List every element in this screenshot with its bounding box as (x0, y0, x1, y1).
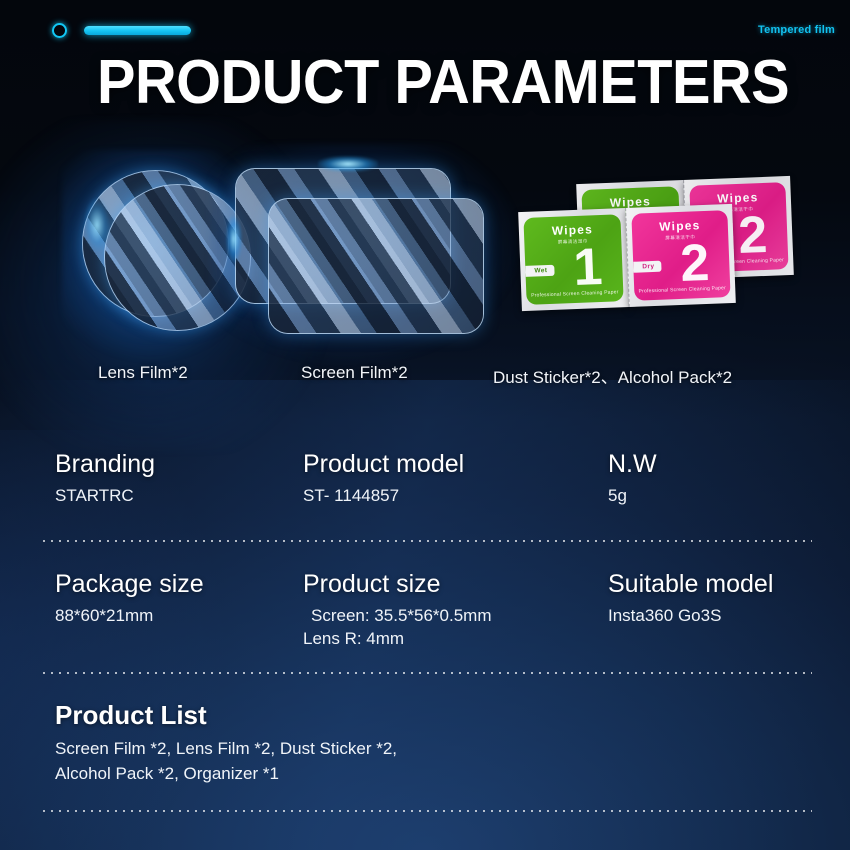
spec-value: Screen: 35.5*56*0.5mm (311, 606, 492, 626)
spec-value: Insta360 Go3S (608, 606, 773, 626)
wipes-title: Wipes (524, 221, 621, 239)
wipes-sachet-dry: Wipes 屏幕清洁干巾 Dry 2 Professional Screen C… (625, 204, 736, 307)
accent-bar (84, 26, 191, 35)
spec-value-secondary: Lens R: 4mm (303, 629, 492, 649)
wipes-pad-pink: Wipes 屏幕清洁干巾 Dry 2 Professional Screen C… (631, 210, 730, 301)
page-title: PRODUCT PARAMETERS (97, 52, 789, 114)
caption-dust-sticker-alcohol-pack: Dust Sticker*2、Alcohol Pack*2 (493, 363, 732, 388)
wipes-title: Wipes (632, 217, 728, 235)
tempered-film-tag: Tempered film (758, 24, 835, 36)
wipes-sachet-wet: Wipes 屏幕清洁湿巾 Wet 1 Professional Screen C… (518, 208, 629, 311)
divider-1 (40, 540, 812, 542)
wipes-number: 2 (737, 209, 768, 262)
caption-lens-film: Lens Film*2 (98, 363, 188, 383)
wipes-footer: Professional Screen Cleaning Paper (634, 285, 730, 295)
ring-icon (52, 23, 67, 38)
spec-value: 88*60*21mm (55, 606, 204, 626)
film-highlight-left (226, 216, 242, 262)
spec-value: ST- 1144857 (303, 486, 464, 506)
wipes-pad-green: Wipes 屏幕清洁湿巾 Wet 1 Professional Screen C… (523, 214, 623, 305)
product-list-title: Product List (55, 700, 397, 731)
spec-product-size: Product size Screen: 35.5*56*0.5mm Lens … (303, 570, 492, 649)
product-parameters-page: Tempered film PRODUCT PARAMETERS (0, 0, 850, 850)
caption-screen-film: Screen Film*2 (301, 363, 408, 383)
product-list-block: Product List Screen Film *2, Lens Film *… (55, 700, 397, 784)
wipes-number: 1 (572, 241, 603, 294)
spec-label: N.W (608, 450, 657, 479)
wipes-image: Wipes 屏幕清洁湿巾 Wet 1 Professional Screen C… (520, 180, 810, 340)
film-highlight-top (318, 156, 378, 172)
screen-film-front (268, 198, 484, 334)
lens-highlight (84, 198, 110, 252)
film-stripes (268, 198, 484, 334)
divider-2 (40, 672, 812, 674)
product-list-line-2: Alcohol Pack *2, Organizer *1 (55, 764, 397, 784)
spec-label: Product size (303, 570, 492, 599)
screen-film-image (232, 162, 502, 347)
wipes-number: 2 (679, 237, 710, 290)
spec-package-size: Package size 88*60*21mm (55, 570, 204, 626)
product-list-line-1: Screen Film *2, Lens Film *2, Dust Stick… (55, 739, 397, 759)
spec-net-weight: N.W 5g (608, 450, 657, 506)
spec-branding: Branding STARTRC (55, 450, 155, 506)
wipes-pair-front: Wipes 屏幕清洁湿巾 Wet 1 Professional Screen C… (518, 204, 736, 311)
spec-product-model: Product model ST- 1144857 (303, 450, 464, 506)
spec-label: Suitable model (608, 570, 773, 599)
spec-suitable-model: Suitable model Insta360 Go3S (608, 570, 773, 626)
spec-label: Product model (303, 450, 464, 479)
spec-label: Branding (55, 450, 155, 479)
spec-label: Package size (55, 570, 204, 599)
spec-value: 5g (608, 486, 657, 506)
wipes-tab: Wet (525, 265, 554, 277)
divider-3 (40, 810, 812, 812)
wipes-footer: Professional Screen Cleaning Paper (526, 289, 623, 299)
product-showcase: Wipes 屏幕清洁湿巾 Wet 1 Professional Screen C… (0, 150, 850, 350)
wipes-tab: Dry (633, 261, 661, 273)
spec-value: STARTRC (55, 486, 155, 506)
